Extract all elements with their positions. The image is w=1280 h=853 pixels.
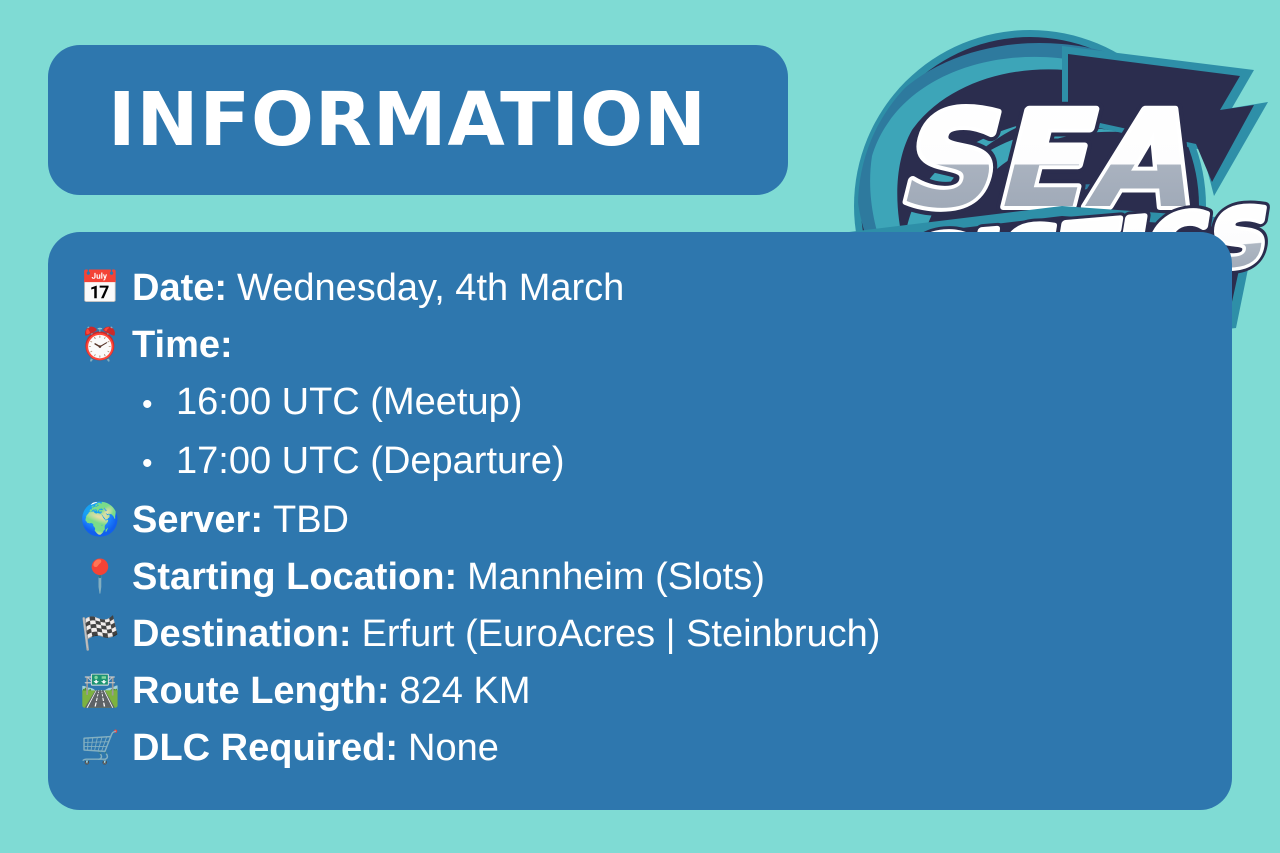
list-item: • 17:00 UTC (Departure) [142, 433, 1180, 492]
list-item: • 16:00 UTC (Meetup) [142, 374, 1180, 433]
poster-canvas: INFORMATION [0, 0, 1280, 853]
info-value-destination: Erfurt (EuroAcres | Steinbruch) [362, 606, 881, 662]
info-label-date: Date: [132, 260, 227, 316]
header-panel: INFORMATION [48, 45, 788, 195]
information-panel: 📅 Date: Wednesday, 4th March ⏰ Time: • 1… [48, 232, 1232, 810]
map-pin-icon: 📍 [80, 548, 132, 604]
info-row-starting-location: 📍 Starting Location: Mannheim (Slots) [80, 549, 1180, 606]
info-row-server: 🌍 Server: TBD [80, 492, 1180, 549]
info-label-route-length: Route Length: [132, 663, 390, 719]
logo-wing [1062, 46, 1268, 196]
info-label-destination: Destination: [132, 606, 352, 662]
info-value-date: Wednesday, 4th March [237, 260, 624, 316]
info-row-time: ⏰ Time: [80, 317, 1180, 374]
time-departure-text: 17:00 UTC (Departure) [176, 433, 565, 490]
svg-text:SEA: SEA [887, 84, 1219, 238]
globe-icon: 🌍 [80, 491, 132, 547]
calendar-icon: 📅 [80, 259, 132, 315]
bullet-icon: • [142, 376, 176, 433]
svg-text:SEA: SEA [887, 84, 1219, 238]
info-label-dlc-required: DLC Required: [132, 720, 398, 776]
motorway-icon: 🛣️ [80, 662, 132, 718]
info-value-dlc-required: None [408, 720, 499, 776]
info-label-server: Server: [132, 492, 263, 548]
info-row-destination: 🏁 Destination: Erfurt (EuroAcres | Stein… [80, 606, 1180, 663]
info-value-server: TBD [273, 492, 349, 548]
alarm-clock-icon: ⏰ [80, 316, 132, 372]
time-sub-list: • 16:00 UTC (Meetup) • 17:00 UTC (Depart… [142, 374, 1180, 492]
bullet-icon: • [142, 435, 176, 492]
checkered-flag-icon: 🏁 [80, 605, 132, 661]
info-value-route-length: 824 KM [400, 663, 531, 719]
info-label-time: Time: [132, 317, 233, 373]
logo-text-sea: SEA SEA SEA [887, 84, 1219, 238]
svg-text:SEA: SEA [887, 84, 1219, 238]
info-value-starting-location: Mannheim (Slots) [467, 549, 765, 605]
info-row-dlc-required: 🛒 DLC Required: None [80, 720, 1180, 777]
info-label-starting-location: Starting Location: [132, 549, 457, 605]
shopping-cart-icon: 🛒 [80, 719, 132, 775]
information-list: 📅 Date: Wednesday, 4th March ⏰ Time: • 1… [80, 260, 1180, 777]
time-meetup-text: 16:00 UTC (Meetup) [176, 374, 522, 431]
page-title: INFORMATION [108, 83, 707, 157]
info-row-date: 📅 Date: Wednesday, 4th March [80, 260, 1180, 317]
info-row-route-length: 🛣️ Route Length: 824 KM [80, 663, 1180, 720]
